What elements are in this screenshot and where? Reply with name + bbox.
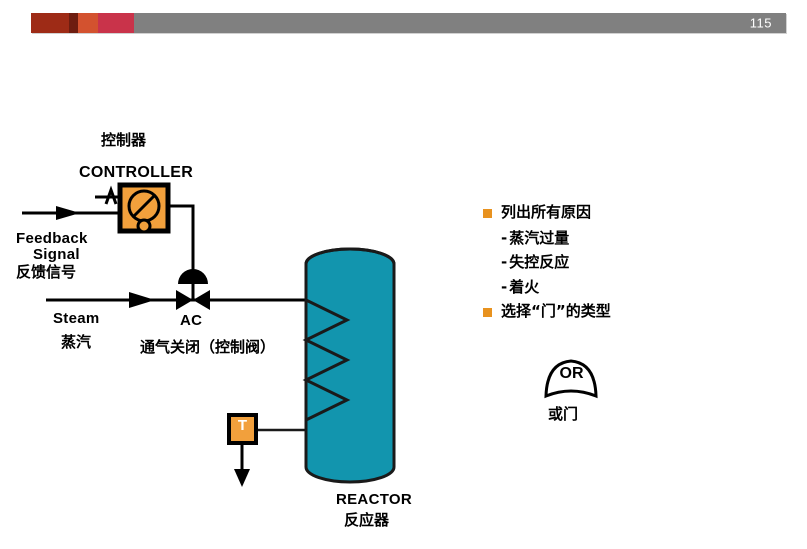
bullet-item-1[interactable]: - 蒸汽过量 bbox=[501, 230, 733, 247]
steam-label-en: Steam bbox=[53, 310, 100, 327]
bullet-text: 列出所有原因 bbox=[501, 204, 591, 221]
valve-actuator-dome bbox=[178, 269, 208, 284]
bullet-dash: - bbox=[501, 254, 507, 271]
steam-label-cn: 蒸汽 bbox=[61, 334, 91, 351]
feedback-arrowhead bbox=[56, 206, 80, 220]
page-number: 115 bbox=[750, 17, 772, 30]
bullet-item-2[interactable]: - 失控反应 bbox=[501, 254, 733, 271]
feedback-label-line1: Feedback bbox=[16, 230, 88, 247]
bullet-marker-icon bbox=[483, 308, 492, 317]
valve-body-right[interactable] bbox=[193, 290, 210, 310]
slide-canvas: 115 bbox=[0, 0, 807, 549]
bullet-marker-icon bbox=[483, 209, 492, 218]
bullet-dash: - bbox=[501, 230, 507, 247]
controller-label-en: CONTROLLER bbox=[79, 164, 193, 182]
slide-header-bar: 115 bbox=[31, 13, 786, 33]
valve-label-en: AC bbox=[180, 312, 202, 329]
bullet-item-3[interactable]: - 着火 bbox=[501, 279, 733, 296]
header-segment-crimson bbox=[98, 13, 134, 33]
valve-body-left[interactable] bbox=[176, 290, 193, 310]
valve-label-cn: 通气关闭（控制阀） bbox=[140, 339, 275, 356]
bullet-text: 选择“门”的类型 bbox=[501, 303, 611, 320]
steam-flow-arrowhead bbox=[129, 292, 155, 308]
bullet-list: 列出所有原因 - 蒸汽过量 - 失控反应 - 着火 选择“门”的类型 bbox=[483, 204, 733, 329]
reactor-label-cn: 反应器 bbox=[344, 512, 389, 529]
feedback-label-line2: Signal bbox=[33, 246, 80, 263]
reactor-label-en: REACTOR bbox=[336, 491, 412, 508]
temperature-output-arrowhead bbox=[234, 469, 250, 487]
feedback-label-cn: 反馈信号 bbox=[16, 264, 76, 281]
bullet-text: 蒸汽过量 bbox=[509, 230, 569, 247]
bullet-item-0[interactable]: 列出所有原因 bbox=[483, 204, 733, 221]
temperature-sensor-label: T bbox=[229, 417, 256, 434]
bullet-dash: - bbox=[501, 279, 507, 296]
bullet-item-4[interactable]: 选择“门”的类型 bbox=[483, 303, 733, 320]
controller-mount-circle bbox=[138, 220, 150, 232]
bullet-text: 失控反应 bbox=[509, 254, 569, 271]
header-segment-darker-red bbox=[69, 13, 78, 33]
reactor-vessel-body[interactable] bbox=[306, 249, 394, 482]
header-segment-grey: 115 bbox=[134, 13, 786, 33]
controller-output-line bbox=[168, 206, 193, 276]
header-segment-dark-red bbox=[31, 13, 69, 33]
or-gate-caption: 或门 bbox=[548, 403, 578, 424]
bullet-text: 着火 bbox=[509, 279, 539, 296]
or-gate-text: OR bbox=[546, 365, 597, 383]
controller-label-cn: 控制器 bbox=[101, 132, 146, 149]
header-segment-orange-red bbox=[78, 13, 98, 33]
